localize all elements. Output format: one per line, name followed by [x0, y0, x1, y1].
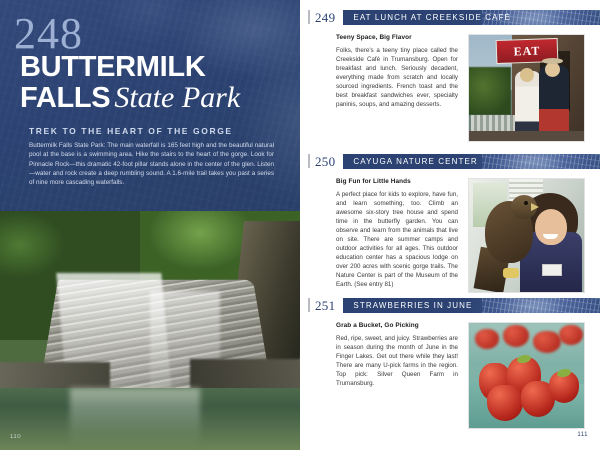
entry-251-number: 251 — [315, 299, 335, 312]
photo-person-right-hat — [542, 58, 563, 64]
photo-person-face — [535, 209, 567, 245]
photo-berry-bg — [475, 329, 499, 349]
photo-shrubs — [468, 67, 511, 115]
entry-249-paragraph: Folks, there's a teeny tiny place called… — [336, 46, 458, 109]
entry-tick-mark — [308, 10, 310, 24]
photo-ground — [469, 131, 584, 141]
entry-251-title: STRAWBERRIES IN JUNE — [343, 301, 472, 310]
entry-tick-mark — [308, 154, 310, 168]
naturalist-with-hawk-photo — [468, 178, 585, 293]
entry-251-title-bar: STRAWBERRIES IN JUNE — [343, 298, 600, 313]
entry-251-header: 251 STRAWBERRIES IN JUNE — [300, 297, 600, 313]
photo-hawk-talon — [503, 268, 519, 278]
entry-249-number: 249 — [315, 11, 335, 24]
left-subhead: TREK TO THE HEART OF THE GORGE — [29, 126, 233, 136]
photo-name-badge — [542, 264, 562, 276]
park-title-line2: FALLSState Park — [20, 82, 295, 114]
park-title-line1: BUTTERMILK — [20, 52, 295, 82]
left-page: 248 BUTTERMILK FALLSState Park TREK TO T… — [0, 0, 300, 450]
entry-250-number: 250 — [315, 155, 335, 168]
entry-250-paragraph: A perfect place for kids to explore, hav… — [336, 190, 458, 289]
photo-person-right-head — [545, 62, 560, 77]
entry-249-body: Teeny Space, Big Flavor Folks, there's a… — [300, 25, 600, 142]
entry-251-text-column: Grab a Bucket, Go Picking Red, ripe, swe… — [336, 322, 458, 429]
entry-249-title: EAT LUNCH AT CREEKSIDE CAFÉ — [343, 13, 511, 22]
entry-249-header: 249 EAT LUNCH AT CREEKSIDE CAFÉ — [300, 9, 600, 25]
book-spread: 248 BUTTERMILK FALLSState Park TREK TO T… — [0, 0, 600, 450]
buttermilk-falls-cascade-photo: 110 — [0, 211, 300, 450]
entry-250-title-bar: CAYUGA NATURE CENTER — [343, 154, 600, 169]
photo-berry-bg — [533, 331, 561, 353]
page-number-left: 110 — [10, 434, 21, 440]
page-number-right: 111 — [577, 432, 588, 438]
photo-hawk-eye — [524, 201, 528, 205]
entry-249-title-bar: EAT LUNCH AT CREEKSIDE CAFÉ — [343, 10, 600, 25]
entry-250-subhead: Big Fun for Little Hands — [336, 178, 458, 185]
entry-249-text-column: Teeny Space, Big Flavor Folks, there's a… — [336, 34, 458, 142]
entry-249: 249 EAT LUNCH AT CREEKSIDE CAFÉ Teeny Sp… — [300, 9, 600, 142]
entry-251-body: Grab a Bucket, Go Picking Red, ripe, swe… — [300, 313, 600, 429]
creekside-cafe-eat-sign-photo: EAT — [468, 34, 585, 142]
entry-250-header: 250 CAYUGA NATURE CENTER — [300, 153, 600, 169]
entry-250-body: Big Fun for Little Hands A perfect place… — [300, 169, 600, 293]
park-title-state-park: State Park — [114, 81, 240, 114]
entry-tick-mark — [308, 298, 310, 312]
left-body-text: Buttermilk Falls State Park: The main wa… — [29, 141, 274, 187]
photo-berry-bg — [559, 325, 583, 345]
entry-250-title: CAYUGA NATURE CENTER — [343, 157, 477, 166]
page-title: BUTTERMILK FALLSState Park — [20, 52, 295, 114]
photo-swimming-pool-water — [0, 388, 300, 450]
entry-250-text-column: Big Fun for Little Hands A perfect place… — [336, 178, 458, 293]
photo-berry-bg — [503, 325, 529, 347]
entry-249-subhead: Teeny Space, Big Flavor — [336, 34, 458, 41]
entry-251-paragraph: Red, ripe, sweet, and juicy. Strawberrie… — [336, 334, 458, 388]
entry-250: 250 CAYUGA NATURE CENTER Big Fun for Lit… — [300, 153, 600, 293]
entry-251-subhead: Grab a Bucket, Go Picking — [336, 322, 458, 329]
entry-251: 251 STRAWBERRIES IN JUNE Grab a Bucket, … — [300, 297, 600, 429]
fresh-strawberries-in-basket-photo — [468, 322, 585, 429]
photo-person-left-head — [520, 68, 534, 82]
entry-number-248: 248 — [14, 12, 83, 56]
photo-hawk-beak — [531, 203, 539, 211]
park-title-falls: FALLS — [20, 82, 110, 114]
photo-strawberry — [487, 385, 523, 421]
right-page: 249 EAT LUNCH AT CREEKSIDE CAFÉ Teeny Sp… — [300, 0, 600, 450]
